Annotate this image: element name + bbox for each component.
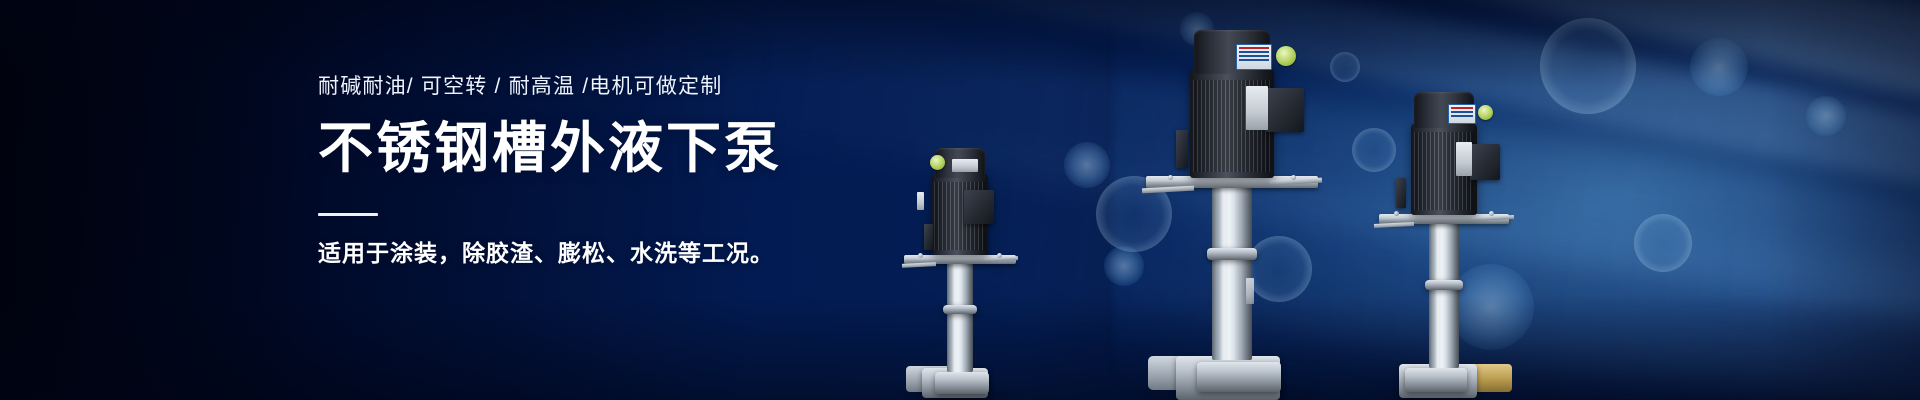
divider-rule bbox=[318, 213, 378, 216]
banner-headline: 不锈钢槽外液下泵 bbox=[318, 121, 1078, 176]
banner-copy: 耐碱耐油/ 可空转 / 耐高温 /电机可做定制 不锈钢槽外液下泵 适用于涂装，除… bbox=[318, 76, 1078, 265]
product-hero-banner: 耐碱耐油/ 可空转 / 耐高温 /电机可做定制 不锈钢槽外液下泵 适用于涂装，除… bbox=[0, 0, 1920, 400]
banner-description: 适用于涂装，除胶渣、膨松、水洗等工况。 bbox=[318, 242, 1078, 265]
banner-subtitle: 耐碱耐油/ 可空转 / 耐高温 /电机可做定制 bbox=[318, 76, 1078, 97]
